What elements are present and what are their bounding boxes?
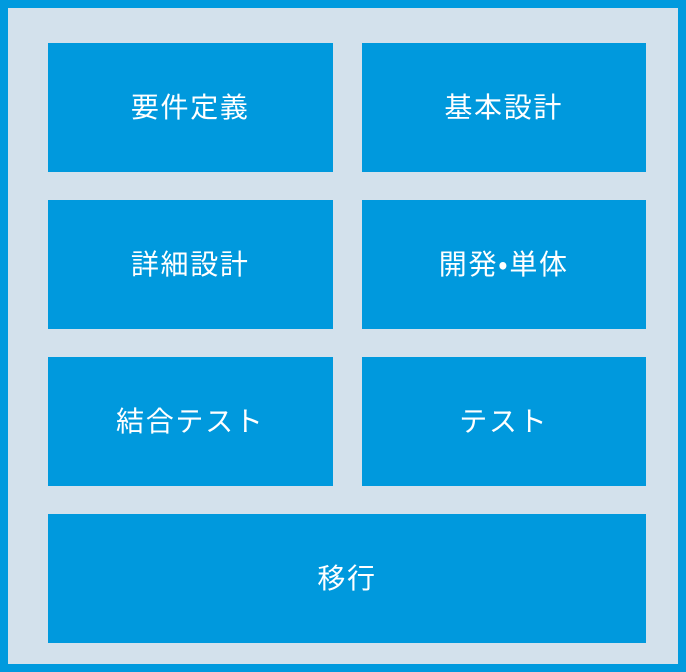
phase-box[interactable]: 要件定義 bbox=[48, 43, 333, 172]
phase-row: 詳細設計開発・単体 bbox=[48, 200, 646, 329]
phase-box-label: 移行 bbox=[317, 562, 376, 596]
phase-box[interactable]: 結合テスト bbox=[48, 357, 333, 486]
phase-row: 移行 bbox=[48, 514, 646, 643]
phase-box-label: 詳細設計 bbox=[131, 248, 250, 282]
phase-box-label: 開発・単体 bbox=[439, 248, 569, 282]
phase-grid: 要件定義基本設計詳細設計開発・単体結合テストテスト移行 bbox=[8, 8, 678, 664]
phase-box-label: 基本設計 bbox=[444, 91, 563, 125]
phase-box[interactable]: テスト bbox=[362, 357, 647, 486]
phase-box[interactable]: 開発・単体 bbox=[362, 200, 647, 329]
phase-row: 結合テストテスト bbox=[48, 357, 646, 486]
phase-box-label: 要件定義 bbox=[131, 91, 250, 125]
phase-box[interactable]: 基本設計 bbox=[362, 43, 647, 172]
phase-box[interactable]: 詳細設計 bbox=[48, 200, 333, 329]
phase-box-label: 結合テスト bbox=[116, 405, 264, 439]
phase-box[interactable]: 移行 bbox=[48, 514, 646, 643]
phase-diagram-frame: 要件定義基本設計詳細設計開発・単体結合テストテスト移行 bbox=[0, 0, 686, 672]
phase-row: 要件定義基本設計 bbox=[48, 43, 646, 172]
phase-box-label: テスト bbox=[459, 405, 548, 439]
